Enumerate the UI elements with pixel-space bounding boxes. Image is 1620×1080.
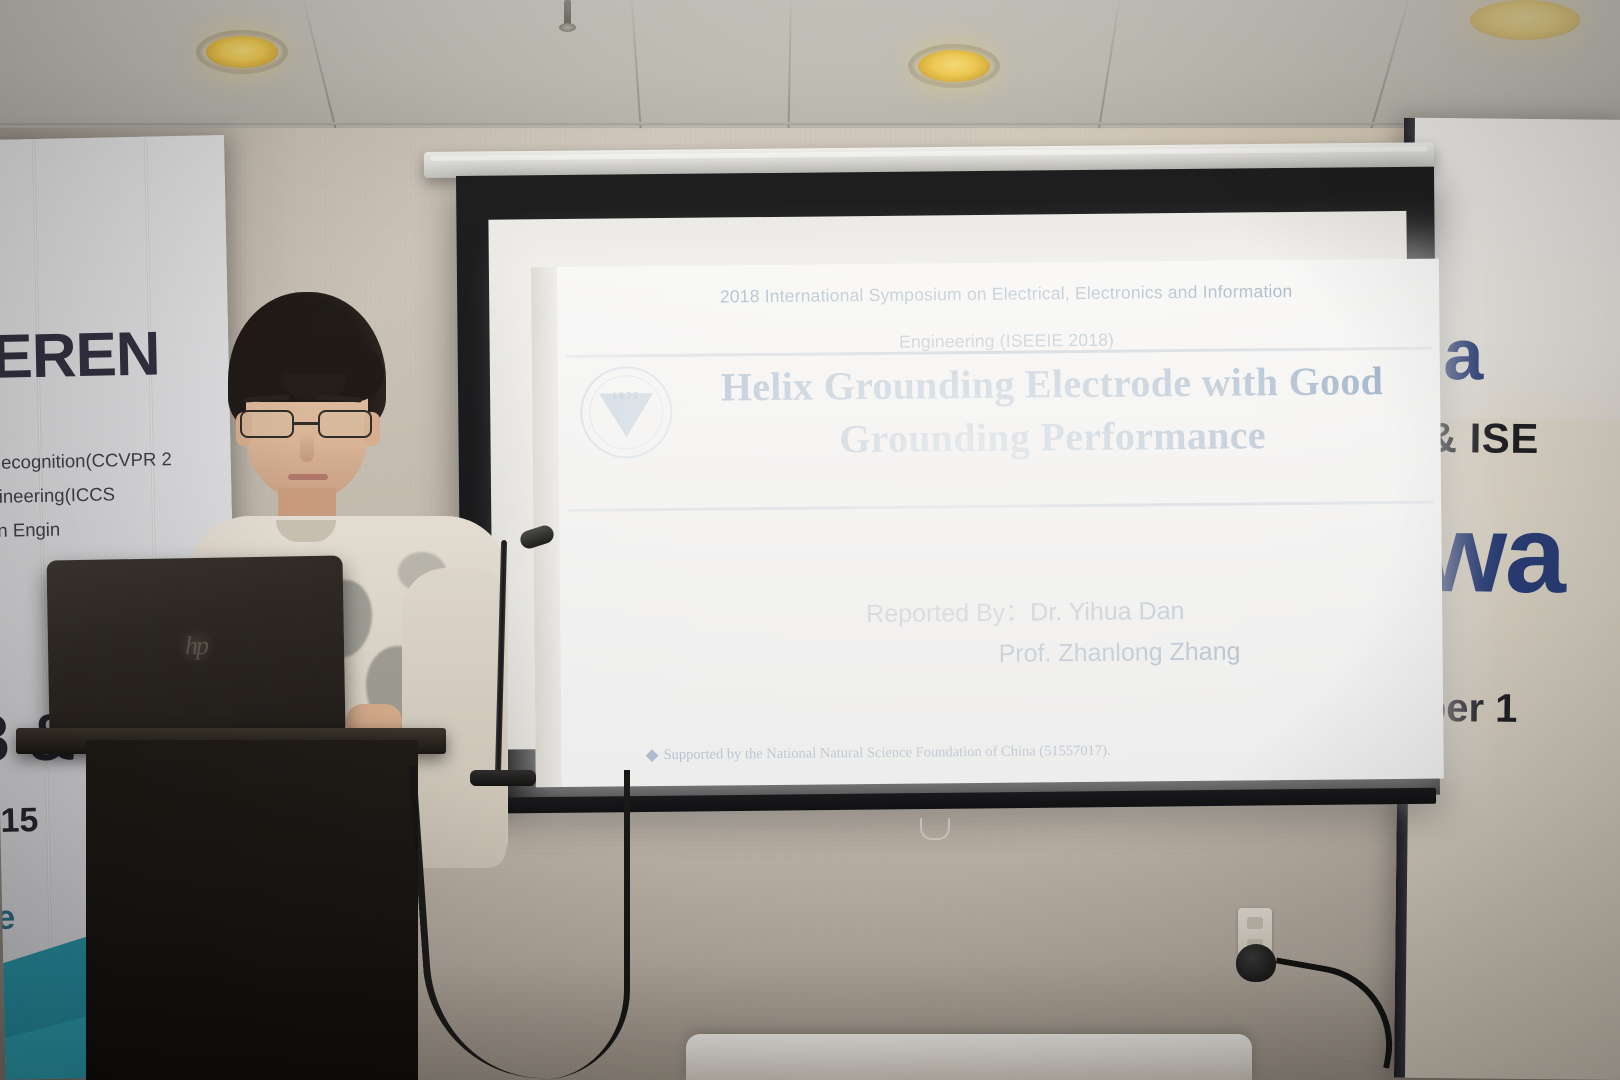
laptop: hp: [46, 555, 345, 736]
ceiling-downlight-right: [918, 50, 990, 82]
podium: [86, 740, 418, 1080]
mouth: [288, 474, 328, 480]
ceiling: [0, 0, 1620, 132]
left-banner-tail-letter: e: [0, 899, 16, 938]
ceiling-downlight-far-right: [1470, 0, 1580, 40]
presentation-room-photo: TEREN tern Recognition(CCVPR 2 s Enginee…: [0, 0, 1620, 1080]
projection-screen: 2018 International Symposium on Electric…: [456, 167, 1440, 804]
ceiling-downlight-left: [206, 36, 278, 68]
sprinkler-head: [564, 0, 571, 26]
hp-logo-icon: hp: [185, 631, 208, 661]
screen-surface: 2018 International Symposium on Electric…: [488, 211, 1411, 750]
screen-weight-bar: [920, 818, 950, 840]
projected-slide: 2018 International Symposium on Electric…: [531, 259, 1444, 788]
nose: [300, 432, 314, 462]
foreground-table: [686, 1034, 1252, 1080]
hair-fringe: [230, 334, 384, 402]
right-banner-line1: & ISE: [1426, 414, 1539, 463]
cable-right: [520, 770, 630, 1080]
right-banner-big-word: wa: [1421, 490, 1565, 618]
power-plug: [1236, 944, 1276, 982]
